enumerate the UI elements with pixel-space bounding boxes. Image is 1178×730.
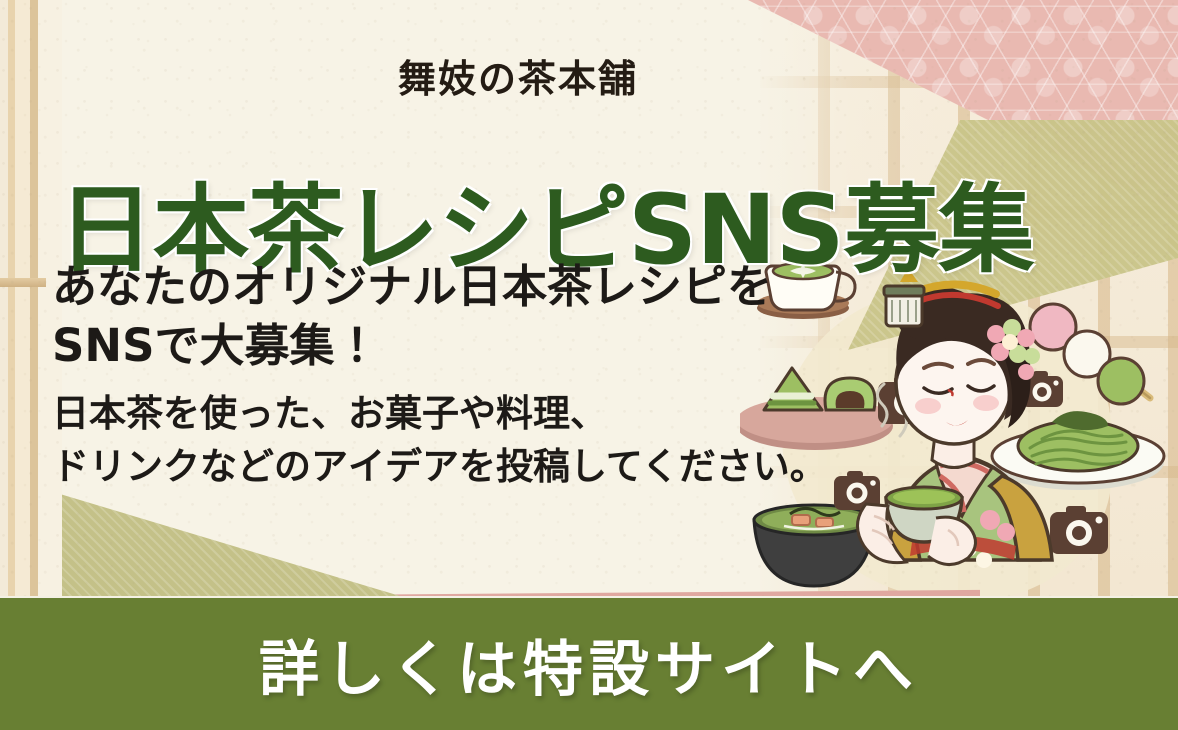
campaign-banner: 舞妓の茶本舗 日本茶レシピSNS募集 あなたのオリジナル日本茶レシピを SNSで…: [0, 0, 1178, 730]
cta-label: 詳しくは特設サイトへ: [259, 621, 919, 708]
subtitle: あなたのオリジナル日本茶レシピを SNSで大募集！: [52, 258, 772, 375]
subtitle-line-2: SNSで大募集！: [52, 317, 772, 376]
matcha-soba-plate-icon: [992, 411, 1164, 490]
subtitle-line-1: あなたのオリジナル日本茶レシピを: [52, 258, 772, 317]
ochazuke-bowl-icon: [754, 505, 874, 586]
body-copy: 日本茶を使った、お菓子や料理、 ドリンクなどのアイデアを投稿してください。: [52, 388, 827, 493]
brand-name: 舞妓の茶本舗: [398, 48, 638, 103]
body-copy-line-2: ドリンクなどのアイデアを投稿してください。: [52, 441, 827, 494]
shoji-frame-rail: [0, 278, 46, 287]
camera-icon: [1050, 506, 1108, 554]
cta-bar[interactable]: 詳しくは特設サイトへ: [0, 596, 1178, 730]
tea-canister-ornament: [884, 286, 924, 326]
body-copy-line-1: 日本茶を使った、お菓子や料理、: [52, 388, 827, 441]
